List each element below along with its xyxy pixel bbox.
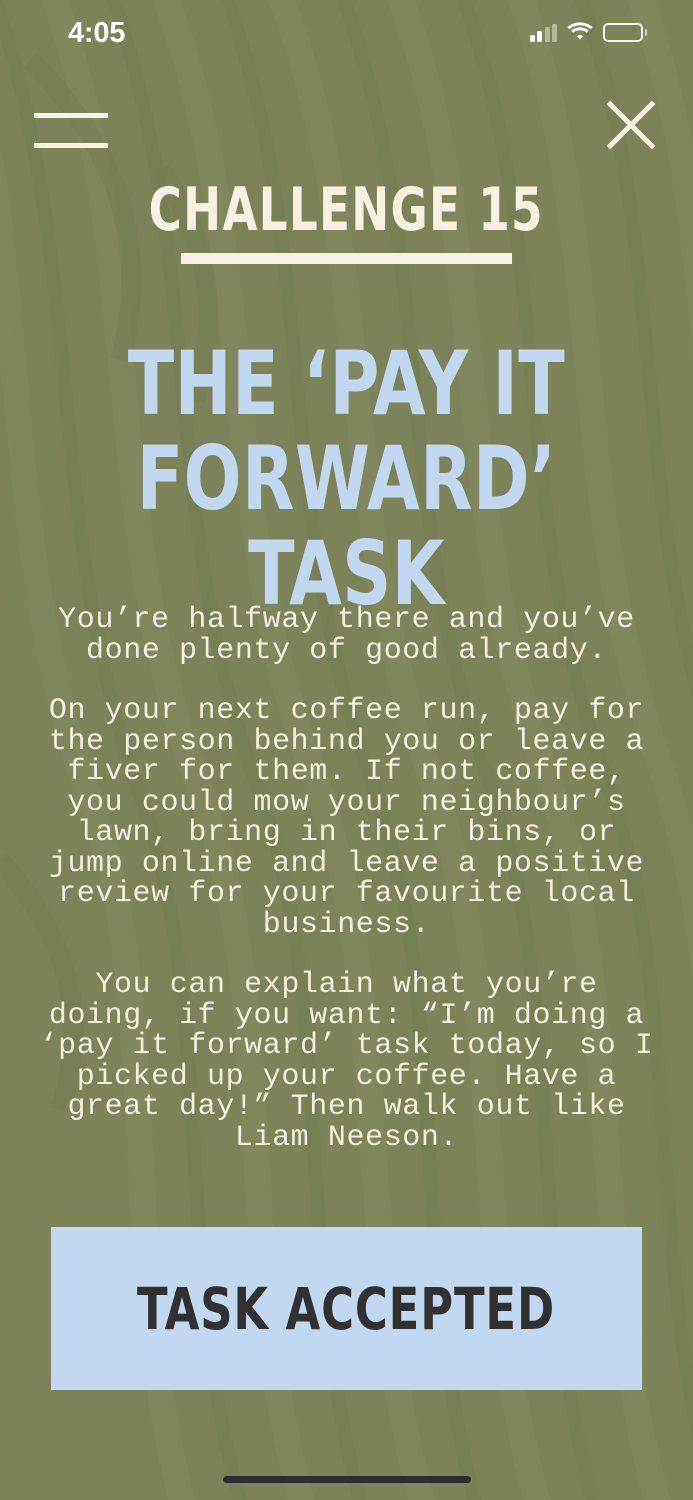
page-title-line-1: THE ‘PAY IT [73,336,621,431]
challenge-number-underline [181,253,512,264]
challenge-screen: 4:05 [0,0,693,1500]
page-title-line-2: FORWARD’ TASK [73,431,621,621]
challenge-description: You’re halfway there and you’ve done ple… [38,605,655,1153]
home-indicator [223,1476,471,1483]
status-bar-time: 4:05 [68,15,125,48]
challenge-number-label: CHALLENGE 15 [149,178,544,242]
wifi-icon [567,21,593,45]
task-accepted-button[interactable]: TASK ACCEPTED [51,1227,642,1390]
description-paragraph-2: On your next coffee run, pay for the per… [38,696,655,940]
challenge-number-wrapper: CHALLENGE 15 [0,178,693,242]
status-bar: 4:05 [0,0,693,62]
cellular-signal-icon [530,24,558,42]
challenge-content: CHALLENGE 15 THE ‘PAY IT FORWARD’ TASK Y… [0,0,693,1500]
hamburger-menu-icon[interactable] [34,103,108,149]
status-bar-icons [530,18,648,45]
top-navigation-bar [0,95,693,170]
description-paragraph-3: You can explain what you’re doing, if yo… [38,970,655,1153]
battery-icon [603,23,647,42]
task-accepted-button-label: TASK ACCEPTED [137,1280,555,1338]
description-paragraph-1: You’re halfway there and you’ve done ple… [38,605,655,666]
page-title: THE ‘PAY IT FORWARD’ TASK [28,336,665,621]
close-x-icon[interactable] [605,99,657,151]
